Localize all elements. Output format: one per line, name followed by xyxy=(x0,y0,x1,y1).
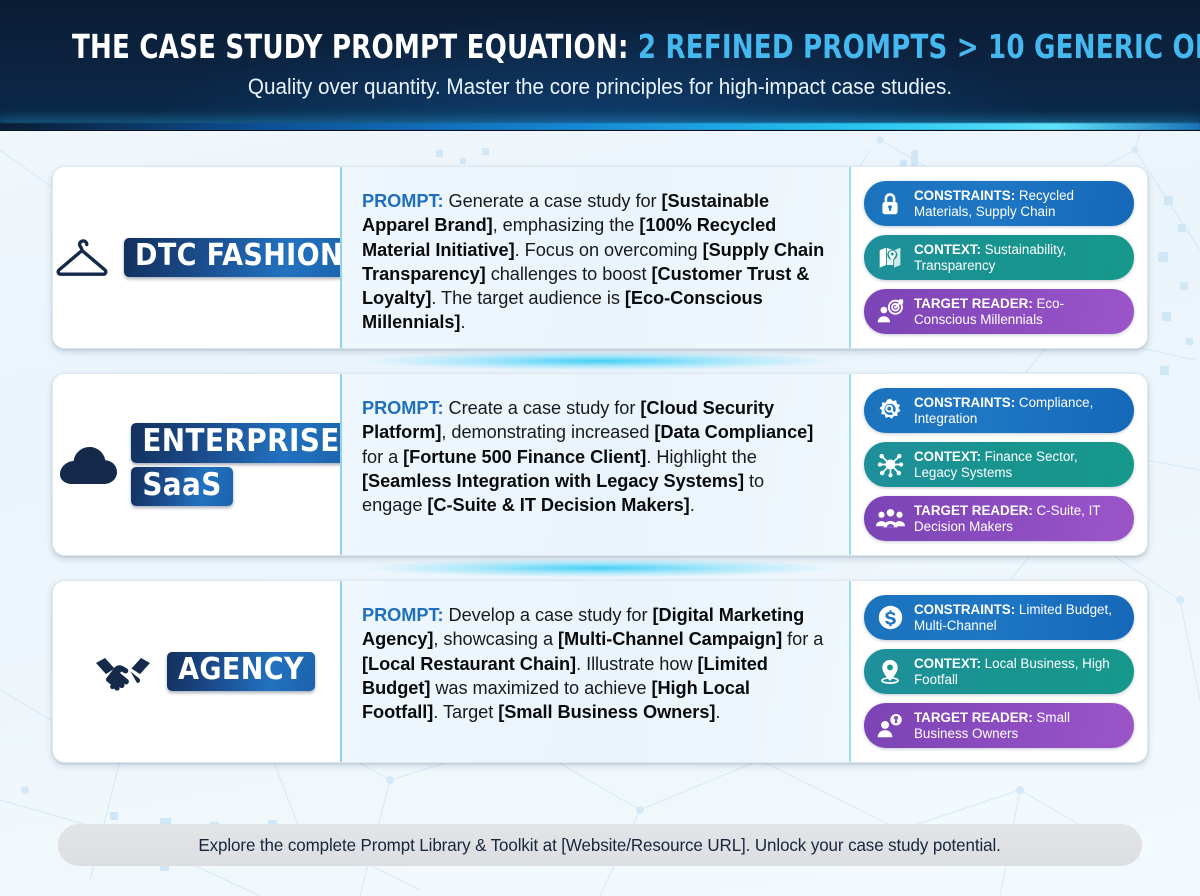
prompt-segment: . The target audience is xyxy=(431,288,625,308)
prompt-segment: Develop a case study for xyxy=(444,605,653,625)
footer-cta-text: Explore the complete Prompt Library & To… xyxy=(199,835,1001,856)
prompt-variable: [C-Suite & IT Decision Makers] xyxy=(427,495,689,515)
card-tags-panel: CONSTRAINTS: Recycled Materials, Supply … xyxy=(851,167,1147,348)
prompt-text: PROMPT: Develop a case study for [Digita… xyxy=(362,603,827,724)
tag-label: CONTEXT: xyxy=(914,449,981,464)
page-title-accent: 2 REFINED PROMPTS > 10 GENERIC ONES xyxy=(638,27,1200,66)
prompt-segment: . Target xyxy=(433,702,498,722)
tag-pill[interactable]: CONSTRAINTS: Compliance, Integration xyxy=(864,388,1134,433)
header-glow-divider xyxy=(0,123,1200,130)
brand-name-line: AGENCY xyxy=(167,652,315,691)
brand-name-badge: AGENCY xyxy=(167,652,315,691)
card-prompt-panel: PROMPT: Generate a case study for [Susta… xyxy=(340,167,851,348)
dollar-coin-icon xyxy=(875,603,905,633)
prompt-segment: for a xyxy=(362,447,403,467)
tag-pill[interactable]: CONTEXT: Local Business, High Footfall xyxy=(864,649,1134,694)
tag-label: CONSTRAINTS: xyxy=(914,602,1015,617)
case-study-card: ENTERPRISESaaSPROMPT: Create a case stud… xyxy=(52,373,1148,556)
tag-text: CONTEXT: Finance Sector, Legacy Systems xyxy=(914,449,1122,481)
prompt-variable: [Data Compliance] xyxy=(654,422,813,442)
map-pin-icon xyxy=(875,243,905,273)
prompt-text: PROMPT: Generate a case study for [Susta… xyxy=(362,189,827,335)
prompt-segment: , demonstrating increased xyxy=(441,422,654,442)
tag-pill[interactable]: TARGET READER: Small Business Owners xyxy=(864,703,1134,748)
card-brand-panel: AGENCY xyxy=(53,581,340,762)
brand-name-line: SaaS xyxy=(131,467,232,507)
tag-label: TARGET READER: xyxy=(914,296,1033,311)
brand-name-badge: ENTERPRISESaaS xyxy=(131,423,350,506)
tag-label: CONTEXT: xyxy=(914,656,981,671)
person-target-icon xyxy=(875,297,905,327)
cloud-icon xyxy=(56,443,118,487)
card-glow-separator xyxy=(52,555,1148,581)
tag-pill[interactable]: CONSTRAINTS: Limited Budget, Multi-Chann… xyxy=(864,595,1134,640)
prompt-segment: Create a case study for xyxy=(444,398,641,418)
prompt-segment: . xyxy=(460,312,465,332)
tag-text: CONTEXT: Sustainability, Transparency xyxy=(914,242,1122,274)
prompt-segment: . Focus on overcoming xyxy=(515,240,703,260)
tag-text: TARGET READER: Small Business Owners xyxy=(914,710,1122,742)
lock-icon xyxy=(875,189,905,219)
tag-label: CONSTRAINTS: xyxy=(914,395,1015,410)
case-study-card: DTC FASHIONPROMPT: Generate a case study… xyxy=(52,166,1148,349)
prompt-label: PROMPT: xyxy=(362,191,444,211)
prompt-variable: [Seamless Integration with Legacy System… xyxy=(362,471,744,491)
tag-label: CONSTRAINTS: xyxy=(914,188,1015,203)
tag-pill[interactable]: TARGET READER: Eco-Conscious Millennials xyxy=(864,289,1134,334)
tag-label: TARGET READER: xyxy=(914,503,1033,518)
prompt-segment: . xyxy=(690,495,695,515)
card-tags-panel: CONSTRAINTS: Limited Budget, Multi-Chann… xyxy=(851,581,1147,762)
tag-pill[interactable]: CONTEXT: Sustainability, Transparency xyxy=(864,235,1134,280)
prompt-segment: . Illustrate how xyxy=(576,654,697,674)
prompt-text: PROMPT: Create a case study for [Cloud S… xyxy=(362,396,827,517)
prompt-segment: , emphasizing the xyxy=(493,215,640,235)
case-study-card: AGENCYPROMPT: Develop a case study for [… xyxy=(52,580,1148,763)
prompt-label: PROMPT: xyxy=(362,398,444,418)
prompt-variable: [Multi-Channel Campaign] xyxy=(558,629,782,649)
prompt-segment: challenges to boost xyxy=(486,264,652,284)
prompt-variable: [Fortune 500 Finance Client] xyxy=(403,447,646,467)
prompt-segment: . Highlight the xyxy=(646,447,756,467)
card-glow-separator xyxy=(52,348,1148,374)
cards-container: DTC FASHIONPROMPT: Generate a case study… xyxy=(0,131,1200,763)
tag-pill[interactable]: CONTEXT: Finance Sector, Legacy Systems xyxy=(864,442,1134,487)
card-prompt-panel: PROMPT: Create a case study for [Cloud S… xyxy=(340,374,851,555)
tag-pill[interactable]: CONSTRAINTS: Recycled Materials, Supply … xyxy=(864,181,1134,226)
card-brand-panel: ENTERPRISESaaS xyxy=(53,374,340,555)
infographic-page: THE CASE STUDY PROMPT EQUATION: 2 REFINE… xyxy=(0,0,1200,896)
tag-text: TARGET READER: C-Suite, IT Decision Make… xyxy=(914,503,1122,535)
tag-text: CONSTRAINTS: Limited Budget, Multi-Chann… xyxy=(914,602,1122,634)
brand-name-badge: DTC FASHION xyxy=(124,238,354,277)
clothes-hanger-icon xyxy=(53,234,111,282)
tag-text: CONTEXT: Local Business, High Footfall xyxy=(914,656,1122,688)
prompt-segment: Generate a case study for xyxy=(444,191,662,211)
page-title-main: THE CASE STUDY PROMPT EQUATION: xyxy=(72,27,629,66)
page-subtitle: Quality over quantity. Master the core p… xyxy=(36,74,1164,100)
location-pin-icon xyxy=(875,657,905,687)
network-node-icon xyxy=(875,450,905,480)
handshake-icon xyxy=(92,650,154,694)
person-badge-icon xyxy=(875,711,905,741)
tag-pill[interactable]: TARGET READER: C-Suite, IT Decision Make… xyxy=(864,496,1134,541)
prompt-variable: [Small Business Owners] xyxy=(498,702,715,722)
gear-search-icon xyxy=(875,396,905,426)
footer-cta-bar[interactable]: Explore the complete Prompt Library & To… xyxy=(58,824,1142,866)
header-banner: THE CASE STUDY PROMPT EQUATION: 2 REFINE… xyxy=(0,0,1200,131)
card-tags-panel: CONSTRAINTS: Compliance, Integration CON… xyxy=(851,374,1147,555)
prompt-segment: , showcasing a xyxy=(433,629,558,649)
brand-name-line: ENTERPRISE xyxy=(131,423,350,463)
tag-text: TARGET READER: Eco-Conscious Millennials xyxy=(914,296,1122,328)
tag-text: CONSTRAINTS: Recycled Materials, Supply … xyxy=(914,188,1122,220)
people-group-icon xyxy=(875,504,905,534)
prompt-segment: was maximized to achieve xyxy=(430,678,651,698)
tag-text: CONSTRAINTS: Compliance, Integration xyxy=(914,395,1122,427)
tag-label: TARGET READER: xyxy=(914,710,1033,725)
page-title: THE CASE STUDY PROMPT EQUATION: 2 REFINE… xyxy=(72,30,1128,65)
tag-label: CONTEXT: xyxy=(914,242,981,257)
prompt-segment: for a xyxy=(782,629,823,649)
brand-name-line: DTC FASHION xyxy=(124,238,354,277)
prompt-label: PROMPT: xyxy=(362,605,444,625)
prompt-segment: . xyxy=(715,702,720,722)
card-brand-panel: DTC FASHION xyxy=(53,167,340,348)
prompt-variable: [Local Restaurant Chain] xyxy=(362,654,576,674)
card-prompt-panel: PROMPT: Develop a case study for [Digita… xyxy=(340,581,851,762)
